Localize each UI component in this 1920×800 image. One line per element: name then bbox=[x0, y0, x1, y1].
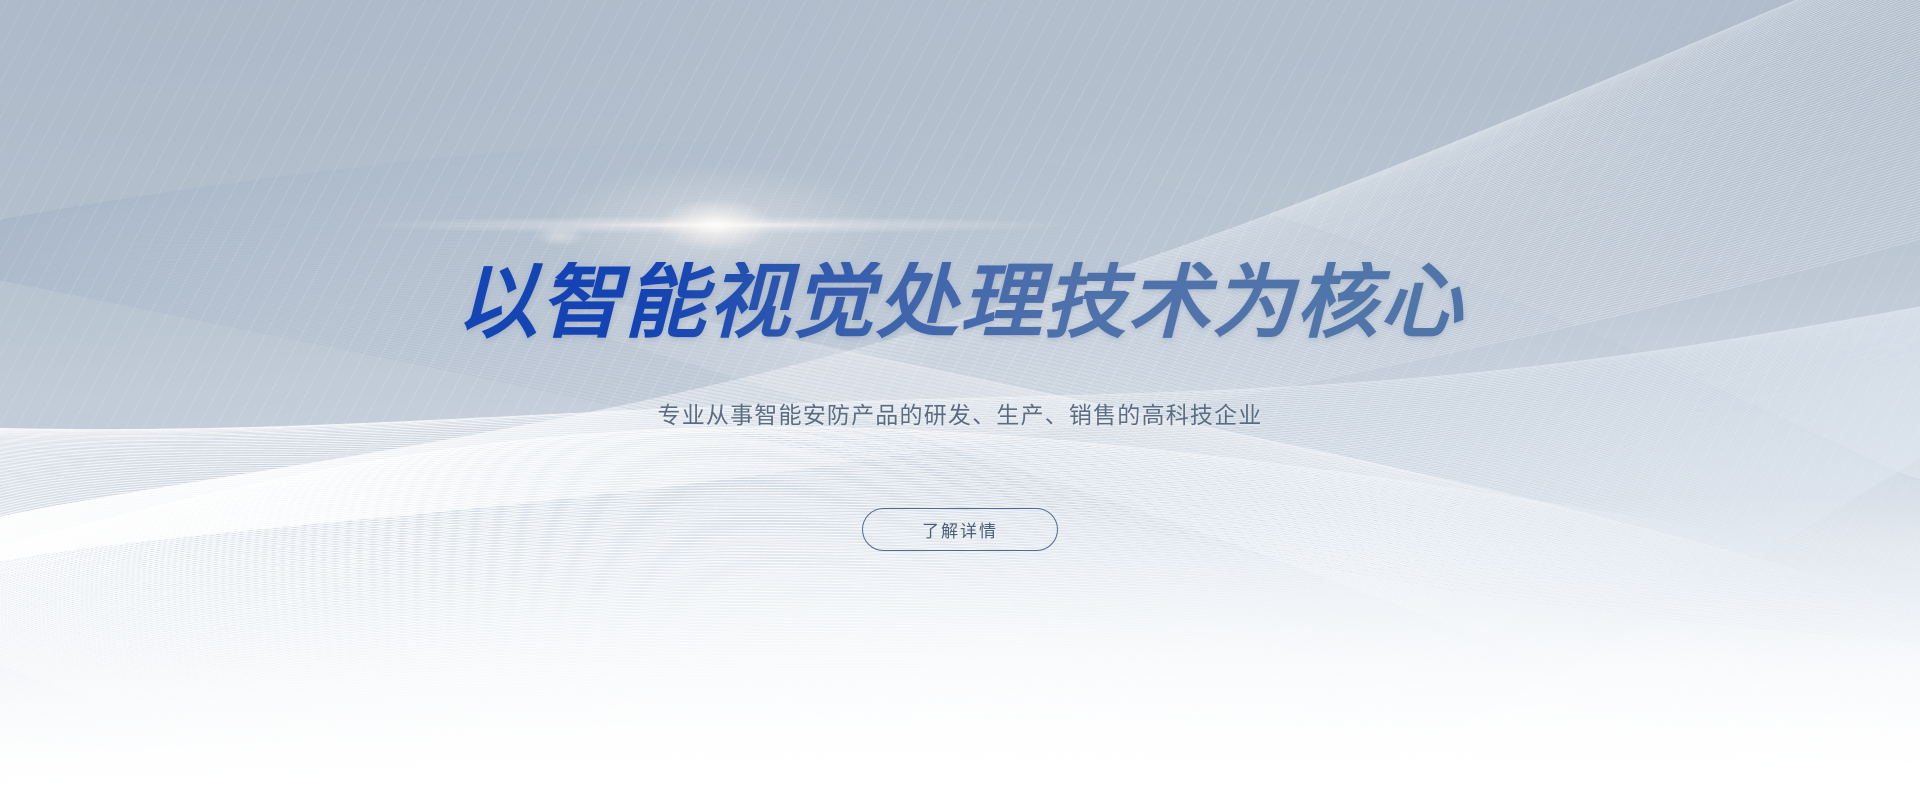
hero-headline: 以智能视觉处理技术为核心 bbox=[0, 262, 1920, 344]
hero-banner: 以智能视觉处理技术为核心 专业从事智能安防产品的研发、生产、销售的高科技企业 了… bbox=[0, 0, 1920, 800]
headline-segment-secondary: 处理技术为核心 bbox=[876, 255, 1464, 350]
learn-more-button[interactable]: 了解详情 bbox=[862, 508, 1058, 551]
headline-segment-primary: 以智能视觉 bbox=[456, 255, 876, 350]
hero-content: 以智能视觉处理技术为核心 专业从事智能安防产品的研发、生产、销售的高科技企业 了… bbox=[0, 0, 1920, 800]
hero-subtitle: 专业从事智能安防产品的研发、生产、销售的高科技企业 bbox=[0, 400, 1920, 432]
hero-cta-wrapper: 了解详情 bbox=[0, 508, 1920, 551]
